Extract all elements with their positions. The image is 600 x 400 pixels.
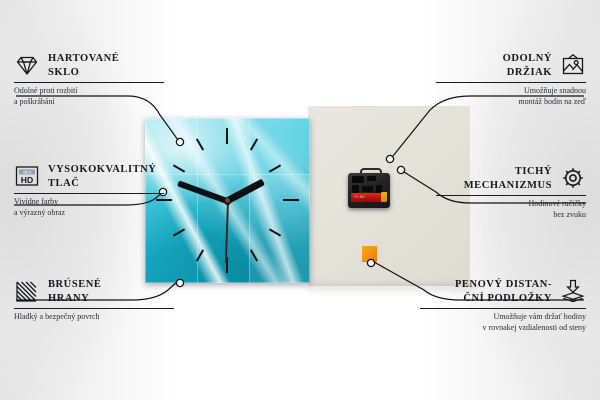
feature-title: BRÚSENÉHRANY <box>48 278 101 305</box>
tick-2 <box>269 164 281 172</box>
hatched-edge-icon <box>14 278 40 304</box>
feature-title: PENOVÝ DISTAN-ČNÍ PODLOŽKY <box>455 278 552 305</box>
feature-subtitle: Hladký a bezpečný povrch <box>14 312 174 323</box>
wall-clock-face <box>145 118 310 283</box>
mechanism-body <box>348 173 390 208</box>
battery-label: +1.5V <box>354 195 365 199</box>
tick-12 <box>226 128 228 144</box>
feature-title: HARTOVANÉSKLO <box>48 52 119 79</box>
ultra-hd-icon-main-text: HD <box>21 175 33 185</box>
diamond-icon <box>14 52 40 78</box>
feature-subtitle: Umožňuje vám držať hodinyv rovnakej vzdi… <box>420 312 586 333</box>
ultra-hd-icon: ultra HD <box>14 163 40 189</box>
gear-icon <box>560 165 586 191</box>
feature-title: VYSOKOKVALITNÝTLAČ <box>48 163 156 190</box>
divider <box>436 82 586 83</box>
hand-hub <box>225 198 230 203</box>
feature-title: ODOLNÝDRŽIAK <box>503 52 552 79</box>
feature-title: TICHÝMECHANIZMUS <box>464 165 552 192</box>
feature-subtitle: Hodinové ručičkybez zvuku <box>436 199 586 220</box>
feature-subtitle: Vivídne farbya výrazný obraz <box>14 197 164 218</box>
press-down-layers-icon <box>560 278 586 304</box>
feature-tempered-glass: HARTOVANÉSKLO Odolné proti rozbitía pošk… <box>14 52 164 107</box>
divider <box>14 193 164 194</box>
foam-spacer-pad <box>362 245 379 262</box>
divider <box>420 308 586 309</box>
picture-frame-hanger-icon <box>560 52 586 78</box>
product-photo: +1.5V <box>140 100 470 290</box>
divider <box>14 308 174 309</box>
divider <box>14 82 164 83</box>
divider <box>436 195 586 196</box>
infographic-stage: +1.5V <box>0 0 600 400</box>
second-hand <box>225 201 229 263</box>
feature-polished-edges: BRÚSENÉHRANY Hladký a bezpečný povrch <box>14 278 174 323</box>
battery-plus-terminal <box>381 192 387 202</box>
feature-silent-mechanism: TICHÝMECHANIZMUS Hodinové ručičkybez zvu… <box>436 165 586 220</box>
feature-foam-spacers: PENOVÝ DISTAN-ČNÍ PODLOŽKY Umožňuje vám … <box>420 278 586 333</box>
tick-8 <box>173 228 185 236</box>
feature-subtitle: Umožňuje snadnoumontáž hodin na zeď <box>436 86 586 107</box>
tick-3 <box>283 199 299 201</box>
ultra-hd-icon-top-text: ultra <box>23 170 32 175</box>
feature-subtitle: Odolné proti rozbitía poškrábání <box>14 86 164 107</box>
tick-1 <box>250 138 258 150</box>
quartz-mechanism: +1.5V <box>348 168 390 208</box>
feature-durable-hanger: ODOLNÝDRŽIAK Umožňuje snadnoumontáž hodi… <box>436 52 586 107</box>
feature-high-quality-print: ultra HD VYSOKOKVALITNÝTLAČ Vivídne farb… <box>14 163 164 218</box>
